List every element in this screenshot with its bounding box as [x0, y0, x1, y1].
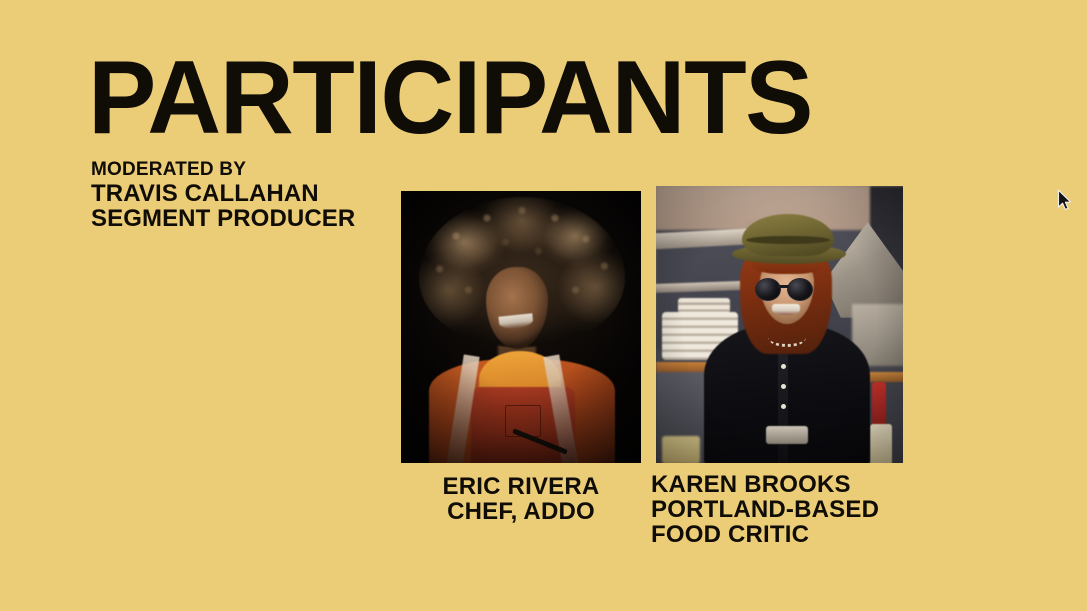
photo-artwork	[656, 186, 903, 463]
participant-role-line1: PORTLAND-BASED	[651, 497, 879, 522]
photo-vignette	[656, 186, 903, 463]
moderator-role: SEGMENT PRODUCER	[91, 206, 355, 231]
participant-role: CHEF, ADDO	[401, 499, 641, 524]
moderated-by-label: MODERATED BY	[91, 158, 355, 181]
participant-photo-eric-rivera	[401, 191, 641, 463]
mouse-pointer-icon	[1057, 189, 1075, 213]
participant-name: KAREN BROOKS	[651, 472, 879, 497]
photo-vignette	[401, 191, 641, 463]
participant-caption-karen-brooks: KAREN BROOKS PORTLAND-BASED FOOD CRITIC	[651, 472, 879, 547]
slide-canvas: PARTICIPANTS MODERATED BY TRAVIS CALLAHA…	[0, 0, 1087, 611]
participant-caption-eric-rivera: ERIC RIVERA CHEF, ADDO	[401, 474, 641, 524]
photo-artwork	[401, 191, 641, 463]
participant-name: ERIC RIVERA	[401, 474, 641, 499]
participant-photo-karen-brooks	[656, 186, 903, 463]
participant-role-line2: FOOD CRITIC	[651, 522, 879, 547]
moderator-name: TRAVIS CALLAHAN	[91, 181, 355, 206]
moderator-block: MODERATED BY TRAVIS CALLAHAN SEGMENT PRO…	[91, 158, 355, 231]
page-title: PARTICIPANTS	[88, 46, 812, 150]
